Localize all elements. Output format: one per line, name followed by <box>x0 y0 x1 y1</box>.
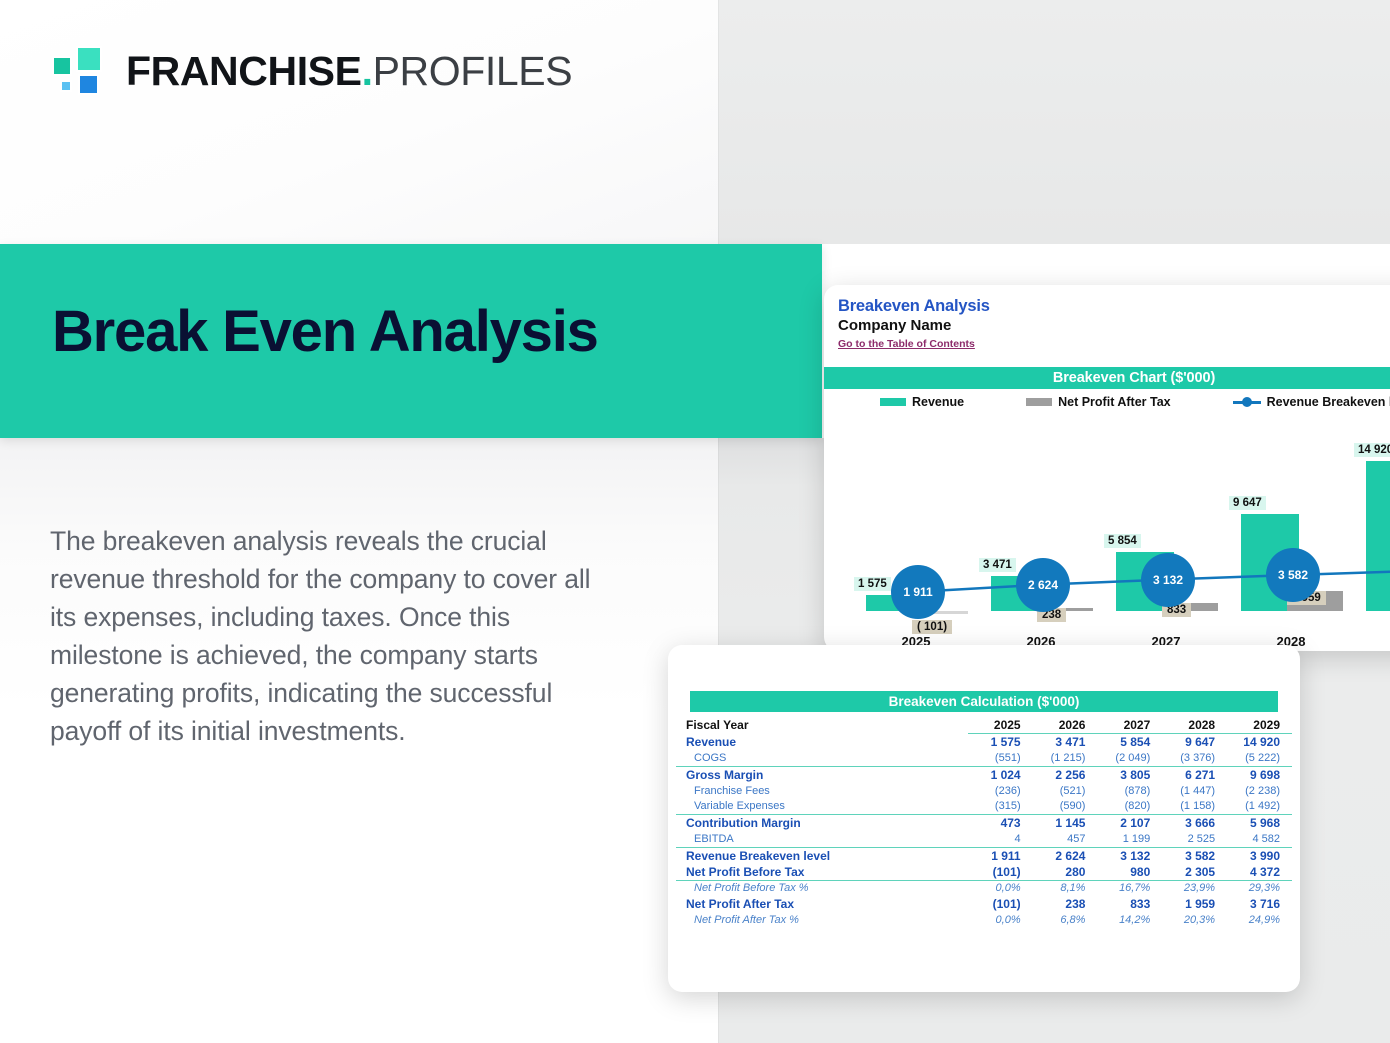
spreadsheet-header: Breakeven Analysis Company Name Go to th… <box>824 285 1390 367</box>
logo-word-secondary: PROFILES <box>373 48 573 94</box>
table-row: Revenue Breakeven level1 9112 6243 1323 … <box>676 847 1292 864</box>
table-row: Variable Expenses(315)(590)(820)(1 158)(… <box>676 799 1292 815</box>
table-cell: 473 <box>968 815 1033 832</box>
revenue-bar[interactable] <box>1366 461 1390 611</box>
table-cell: 9 647 <box>1162 734 1227 751</box>
column-header-year: 2025 <box>968 717 1033 734</box>
table-row: Net Profit After Tax %0,0%6,8%14,2%20,3%… <box>676 912 1292 928</box>
logo-mark-icon <box>46 44 108 98</box>
table-cell: (590) <box>1033 799 1098 815</box>
table-cell: (1 158) <box>1162 799 1227 815</box>
legend-item-revenue-breakeven-level[interactable]: Revenue Breakeven level <box>1233 395 1390 409</box>
table-cell: 23,9% <box>1162 880 1227 896</box>
table-cell: 16,7% <box>1097 880 1162 896</box>
table-row: Net Profit After Tax(101)2388331 9593 71… <box>676 896 1292 912</box>
column-header-fiscal-year: Fiscal Year <box>676 717 968 734</box>
table-cell: 6 271 <box>1162 766 1227 783</box>
row-label: Contribution Margin <box>676 815 968 832</box>
table-cell: 3 666 <box>1162 815 1227 832</box>
column-header-year: 2029 <box>1227 717 1292 734</box>
table-cell: (315) <box>968 799 1033 815</box>
row-label: Variable Expenses <box>676 799 968 815</box>
legend-item-revenue[interactable]: Revenue <box>880 395 964 409</box>
legend-label-net-profit-after-tax: Net Profit After Tax <box>1058 395 1171 409</box>
table-cell: 6,8% <box>1033 912 1098 928</box>
table-row: Gross Margin1 0242 2563 8056 2719 698 <box>676 766 1292 783</box>
table-cell: 1 145 <box>1033 815 1098 832</box>
column-header-year: 2028 <box>1162 717 1227 734</box>
table-cell: 5 854 <box>1097 734 1162 751</box>
table-cell: 8,1% <box>1033 880 1098 896</box>
table-cell: 2 256 <box>1033 766 1098 783</box>
table-cell: 9 698 <box>1227 766 1292 783</box>
table-row: Net Profit Before Tax %0,0%8,1%16,7%23,9… <box>676 880 1292 896</box>
table-header-row: Fiscal Year20252026202720282029 <box>676 717 1292 734</box>
table-cell: 3 805 <box>1097 766 1162 783</box>
table-row: Contribution Margin4731 1452 1073 6665 9… <box>676 815 1292 832</box>
table-cell: (1 492) <box>1227 799 1292 815</box>
table-cell: 0,0% <box>968 912 1033 928</box>
legend-label-revenue: Revenue <box>912 395 964 409</box>
row-label: Revenue Breakeven level <box>676 847 968 864</box>
page-title: Break Even Analysis <box>52 302 598 363</box>
row-label: Franchise Fees <box>676 783 968 799</box>
table-row: EBITDA44571 1992 5254 582 <box>676 831 1292 847</box>
table-cell: (2 049) <box>1097 750 1162 766</box>
row-label: Net Profit After Tax % <box>676 912 968 928</box>
revenue-breakeven-level-node[interactable]: 3 582 <box>1266 548 1320 602</box>
table-cell: 2 107 <box>1097 815 1162 832</box>
table-cell: 0,0% <box>968 880 1033 896</box>
table-cell: (820) <box>1097 799 1162 815</box>
row-label: COGS <box>676 750 968 766</box>
company-name-label: Company Name <box>838 317 1390 334</box>
table-row: Revenue1 5753 4715 8549 64714 920 <box>676 734 1292 751</box>
table-cell: (1 447) <box>1162 783 1227 799</box>
table-cell: (5 222) <box>1227 750 1292 766</box>
chart-legend: Revenue Net Profit After Tax Revenue Bre… <box>824 389 1390 415</box>
column-header-year: 2027 <box>1097 717 1162 734</box>
breakeven-calculation-card: Breakeven Calculation ($'000) Fiscal Yea… <box>668 645 1300 992</box>
spreadsheet-title: Breakeven Analysis <box>838 297 1390 316</box>
row-label: EBITDA <box>676 831 968 847</box>
table-cell: 29,3% <box>1227 880 1292 896</box>
row-label: Revenue <box>676 734 968 751</box>
table-cell: 1 911 <box>968 847 1033 864</box>
table-cell: 1 024 <box>968 766 1033 783</box>
table-cell: 4 <box>968 831 1033 847</box>
table-row: COGS(551)(1 215)(2 049)(3 376)(5 222) <box>676 750 1292 766</box>
table-cell: (1 215) <box>1033 750 1098 766</box>
table-cell: 2 525 <box>1162 831 1227 847</box>
table-cell: (551) <box>968 750 1033 766</box>
table-cell: (2 238) <box>1227 783 1292 799</box>
table-cell: 280 <box>1033 864 1098 881</box>
revenue-breakeven-level-node[interactable]: 2 624 <box>1016 558 1070 612</box>
table-cell: 457 <box>1033 831 1098 847</box>
calculation-title-banner: Breakeven Calculation ($'000) <box>690 691 1278 712</box>
breakeven-chart-card: Breakeven Analysis Company Name Go to th… <box>824 285 1390 651</box>
table-cell: (878) <box>1097 783 1162 799</box>
row-label: Net Profit After Tax <box>676 896 968 912</box>
column-header-year: 2026 <box>1033 717 1098 734</box>
breakeven-calculation-table: Fiscal Year20252026202720282029Revenue1 … <box>676 717 1292 928</box>
table-cell: 24,9% <box>1227 912 1292 928</box>
logo-word-primary: FRANCHISE <box>126 48 362 94</box>
table-row: Net Profit Before Tax(101)2809802 3054 3… <box>676 864 1292 881</box>
revenue-breakeven-level-node[interactable]: 3 132 <box>1141 553 1195 607</box>
table-cell: (101) <box>968 896 1033 912</box>
legend-swatch-line-marker-icon <box>1233 397 1261 407</box>
table-cell: 3 132 <box>1097 847 1162 864</box>
table-cell: 2 305 <box>1162 864 1227 881</box>
legend-label-revenue-breakeven-level: Revenue Breakeven level <box>1267 395 1390 409</box>
table-cell: 4 372 <box>1227 864 1292 881</box>
table-cell: 980 <box>1097 864 1162 881</box>
table-cell: 833 <box>1097 896 1162 912</box>
revenue-bar-label: 14 920 <box>1354 443 1390 457</box>
table-cell: (3 376) <box>1162 750 1227 766</box>
table-cell: 1 199 <box>1097 831 1162 847</box>
table-cell: 2 624 <box>1033 847 1098 864</box>
table-row: Franchise Fees(236)(521)(878)(1 447)(2 2… <box>676 783 1292 799</box>
revenue-bar-label: 3 471 <box>979 558 1016 572</box>
table-cell: 20,3% <box>1162 912 1227 928</box>
table-cell: (101) <box>968 864 1033 881</box>
net-profit-after-tax-label: ( 101) <box>912 620 952 634</box>
row-label: Gross Margin <box>676 766 968 783</box>
table-of-contents-link[interactable]: Go to the Table of Contents <box>838 338 975 350</box>
revenue-bar-label: 9 647 <box>1229 496 1266 510</box>
row-label: Net Profit Before Tax <box>676 864 968 881</box>
legend-item-net-profit-after-tax[interactable]: Net Profit After Tax <box>1026 395 1171 409</box>
brand-logo: FRANCHISE.PROFILES <box>46 44 572 98</box>
table-cell: (521) <box>1033 783 1098 799</box>
table-cell: 238 <box>1033 896 1098 912</box>
body-paragraph: The breakeven analysis reveals the cruci… <box>50 522 620 750</box>
revenue-bar-label: 1 575 <box>854 577 891 591</box>
chart-plot-area: 1 575( 101)1 91120253 4712382 62420265 8… <box>824 415 1390 651</box>
table-cell: 5 968 <box>1227 815 1292 832</box>
table-cell: 3 582 <box>1162 847 1227 864</box>
revenue-bar-label: 5 854 <box>1104 534 1141 548</box>
legend-swatch-bar-icon <box>880 398 906 406</box>
table-cell: 3 990 <box>1227 847 1292 864</box>
bg-panel-left-top <box>0 0 718 244</box>
table-cell: 1 959 <box>1162 896 1227 912</box>
logo-wordmark: FRANCHISE.PROFILES <box>126 51 572 92</box>
table-cell: 1 575 <box>968 734 1033 751</box>
table-cell: 14,2% <box>1097 912 1162 928</box>
row-label: Net Profit Before Tax % <box>676 880 968 896</box>
revenue-breakeven-level-node[interactable]: 1 911 <box>891 565 945 619</box>
table-cell: (236) <box>968 783 1033 799</box>
table-cell: 14 920 <box>1227 734 1292 751</box>
legend-swatch-gray-bar-icon <box>1026 398 1052 406</box>
bg-panel-right-top <box>718 0 1390 244</box>
logo-word-dot: . <box>362 48 373 94</box>
table-cell: 4 582 <box>1227 831 1292 847</box>
table-cell: 3 716 <box>1227 896 1292 912</box>
x-axis-label: 2029 <box>1354 634 1390 649</box>
chart-title-banner: Breakeven Chart ($'000) <box>824 367 1390 389</box>
table-cell: 3 471 <box>1033 734 1098 751</box>
